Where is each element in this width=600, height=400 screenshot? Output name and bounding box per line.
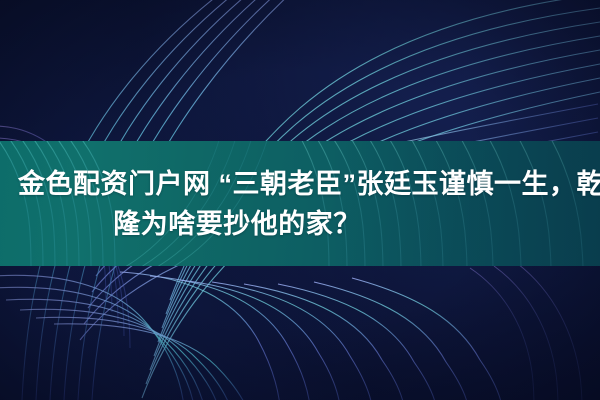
headline-text-block: 金色配资门户网 “三朝老臣”张廷玉谨慎一生，乾 隆为啥要抄他的家？ <box>0 141 600 266</box>
promo-banner: 金色配资门户网 “三朝老臣”张廷玉谨慎一生，乾 隆为啥要抄他的家？ <box>0 0 600 400</box>
headline-line-1: 金色配资门户网 “三朝老臣”张廷玉谨慎一生，乾 <box>18 164 584 204</box>
headline-line-2: 隆为啥要抄他的家？ <box>18 204 584 244</box>
